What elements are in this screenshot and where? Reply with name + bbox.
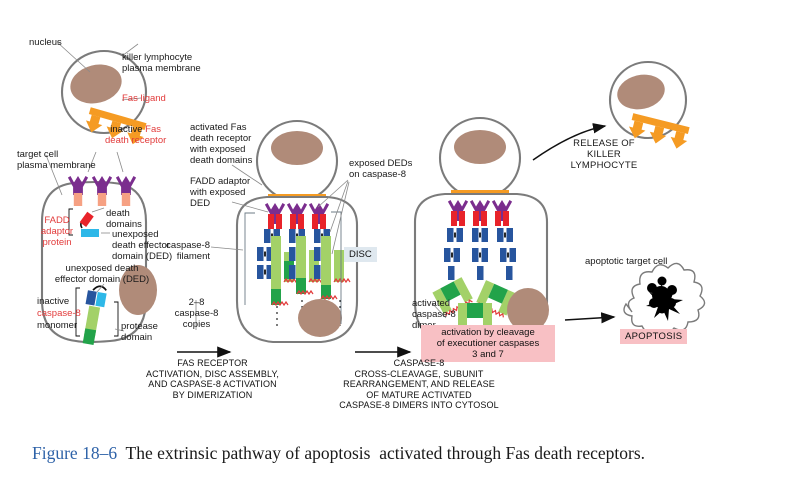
label-release-killer-lymphocyte: RELEASE OF KILLER LYMPHOCYTE bbox=[562, 138, 646, 171]
badge-apoptosis: APOPTOSIS bbox=[620, 329, 687, 344]
label-fas-red: Fas bbox=[145, 124, 161, 135]
label-nucleus: nucleus bbox=[29, 37, 62, 48]
figure-caption: Figure 18–6 The extrinsic pathway of apo… bbox=[32, 443, 800, 464]
label-inactive-text: inactive bbox=[110, 124, 145, 135]
label-target-cell-membrane: target cell plasma membrane bbox=[17, 149, 96, 171]
figure-caption-text: The extrinsic pathway of apoptosis activ… bbox=[117, 443, 645, 463]
label-caspase8-filament: caspase-8 filament bbox=[152, 240, 210, 262]
label-fadd-adaptor-protein: FADD adaptor protein bbox=[40, 215, 74, 248]
label-unexposed-ded-secondary: unexposed death effector domain (DED) bbox=[32, 263, 172, 285]
label-activated-fas-receptor: activated Fas death receptor with expose… bbox=[190, 122, 252, 166]
label-inactive-fas-receptor: inactive Fasdeath receptor bbox=[105, 124, 166, 146]
label-killer-lymphocyte-membrane: killer lymphocyte plasma membrane bbox=[122, 52, 201, 74]
label-death-domains: death domains bbox=[106, 208, 142, 230]
label-apoptotic-target-cell: apoptotic target cell bbox=[585, 256, 667, 267]
label-fas-ligand: Fas ligand bbox=[122, 93, 166, 104]
label-exposed-deds-on-caspase8: exposed DEDs on caspase-8 bbox=[349, 158, 412, 180]
figure-number: Figure 18–6 bbox=[32, 443, 117, 463]
label-inactive-caspase8-line1: inactive bbox=[37, 296, 69, 307]
label-death-receptor-red: death receptor bbox=[105, 135, 166, 146]
badge-activation-by-cleavage: activation by cleavage of executioner ca… bbox=[421, 325, 555, 362]
figure-canvas: nucleus killer lymphocyte plasma membran… bbox=[0, 0, 812, 487]
caption-step-2: CASPASE-8 CROSS-CLEAVAGE, SUBUNIT REARRA… bbox=[320, 358, 518, 411]
label-inactive-caspase8-line3: monomer bbox=[37, 320, 77, 331]
label-caspase8-copies: 2–8 caspase-8 copies bbox=[168, 297, 225, 330]
label-inactive-caspase8-red: caspase-8 bbox=[37, 308, 81, 319]
badge-disc: DISC bbox=[344, 247, 377, 262]
label-fadd-adaptor-exposed-ded: FADD adaptor with exposed DED bbox=[190, 176, 250, 209]
label-protease-domain: protease domain bbox=[121, 321, 158, 343]
caption-step-1: FAS RECEPTOR ACTIVATION, DISC ASSEMBLY, … bbox=[145, 358, 280, 400]
